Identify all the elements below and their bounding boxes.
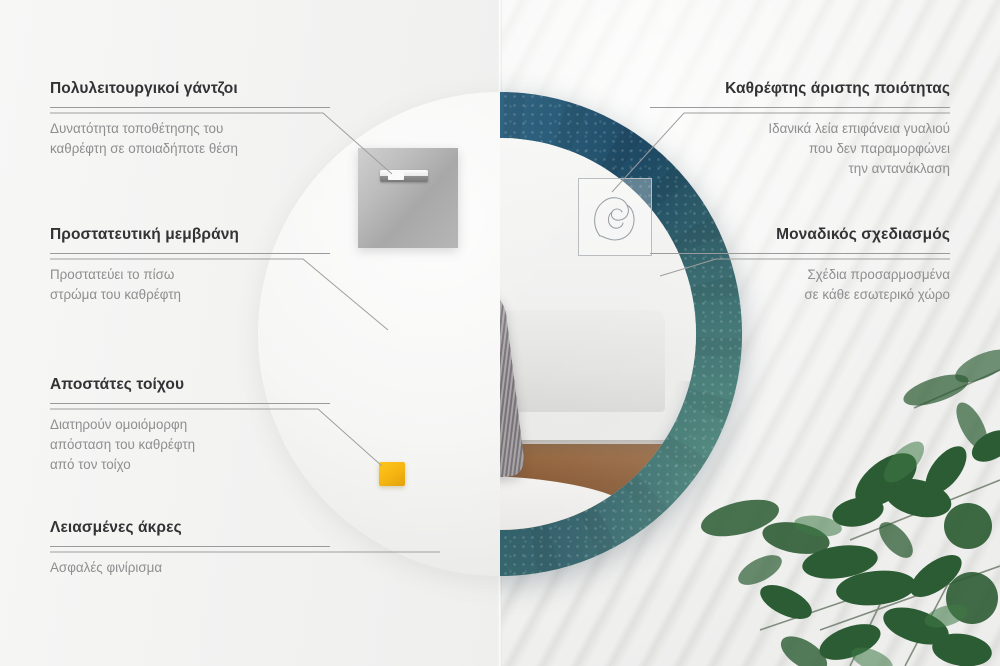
callout-spacers-title: Αποστάτες τοίχου (50, 376, 330, 394)
callout-hooks-rule (50, 107, 330, 108)
callout-hooks-body: Δυνατότητα τοποθέτησης του καθρέφτη σε ο… (50, 119, 330, 159)
callout-spacers-body: Διατηρούν ομοιόμορφη απόσταση του καθρέφ… (50, 415, 330, 474)
callout-quality-mirror-rule (650, 107, 950, 108)
line-art-face-icon (578, 178, 652, 256)
callout-unique-design: Μοναδικός σχεδιασμός Σχέδια προσαρμοσμέν… (650, 226, 950, 305)
callout-membrane-body: Προστατεύει το πίσω στρώμα του καθρέφτη (50, 265, 330, 305)
infographic-canvas: Πολυλειτουργικοί γάντζοι Δυνατότητα τοπο… (0, 0, 1000, 666)
callout-edges-title: Λειασμένες άκρες (50, 519, 330, 537)
hook-slot-notch (388, 172, 404, 180)
callout-quality-mirror-title: Καθρέφτης άριστης ποιότητας (650, 80, 950, 98)
plant-foliage (700, 330, 1000, 666)
callout-hooks-title: Πολυλειτουργικοί γάντζοι (50, 80, 330, 98)
callout-edges-body: Ασφαλές φινίρισμα (50, 558, 330, 578)
callout-unique-design-title: Μοναδικός σχεδιασμός (650, 226, 950, 244)
callout-unique-design-rule (650, 253, 950, 254)
callout-membrane: Προστατευτική μεμβράνη Προστατεύει το πί… (50, 226, 330, 305)
callout-spacers-rule (50, 403, 330, 404)
callout-quality-mirror: Καθρέφτης άριστης ποιότητας Ιδανικά λεία… (650, 80, 950, 178)
callout-quality-mirror-body: Ιδανικά λεία επιφάνεια γυαλιού που δεν π… (650, 119, 950, 178)
callout-edges-rule (50, 546, 330, 547)
wall-spacer-marker (379, 462, 405, 486)
callout-hooks: Πολυλειτουργικοί γάντζοι Δυνατότητα τοπο… (50, 80, 330, 159)
callout-spacers: Αποστάτες τοίχου Διατηρούν ομοιόμορφη απ… (50, 376, 330, 474)
callout-unique-design-body: Σχέδια προσαρμοσμένα σε κάθε εσωτερικό χ… (650, 265, 950, 305)
hook-mounting-plate (358, 148, 458, 248)
callout-edges: Λειασμένες άκρες Ασφαλές φινίρισμα (50, 519, 330, 578)
callout-membrane-title: Προστατευτική μεμβράνη (50, 226, 330, 244)
callout-membrane-rule (50, 253, 330, 254)
